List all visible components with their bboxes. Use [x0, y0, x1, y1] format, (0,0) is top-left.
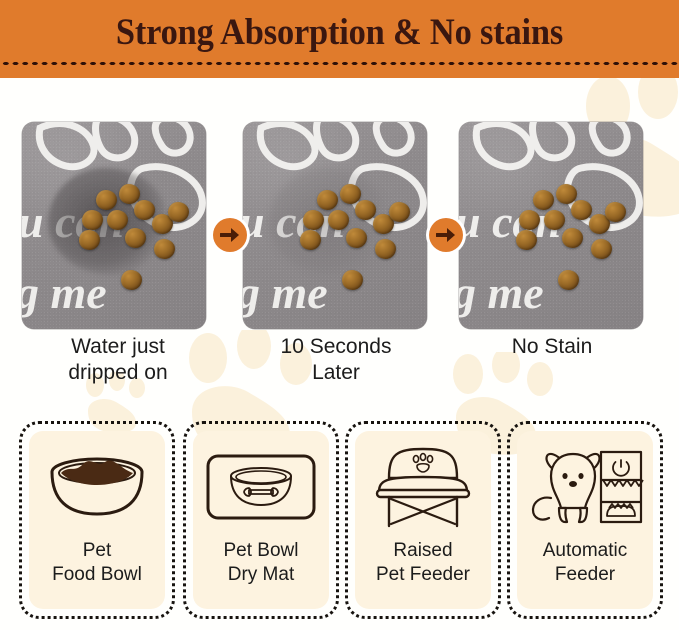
caption-line-1: No Stain [452, 334, 652, 360]
caption-line-2: Later [236, 360, 436, 386]
kibble-piece [516, 230, 537, 250]
svg-text:g me: g me [459, 267, 544, 318]
pet-bowl-dry-mat-icon [205, 437, 317, 537]
label-line-2: Pet Feeder [376, 563, 470, 587]
demo-tile-water-dripped: u can g me [22, 122, 206, 329]
use-case-card-pet-food-bowl: Pet Food Bowl [19, 421, 175, 619]
kibble-piece [328, 210, 349, 230]
header-banner: Strong Absorption & No stains [0, 0, 679, 78]
kibble-piece [125, 228, 146, 248]
svg-text:g me: g me [22, 267, 107, 318]
kibble-piece [96, 190, 117, 210]
automatic-feeder-icon [525, 437, 645, 537]
use-case-label: Automatic Feeder [543, 539, 627, 587]
kibble-piece [389, 202, 410, 222]
kibble-piece [558, 270, 579, 290]
kibble-piece [556, 184, 577, 204]
kibble-piece [317, 190, 338, 210]
arrow-right-icon [213, 218, 247, 252]
caption-line-2: dripped on [18, 360, 218, 386]
kibble-piece [571, 200, 592, 220]
kibble-piece [591, 239, 612, 259]
caption-line-1: 10 Seconds [236, 334, 436, 360]
dotted-divider [0, 61, 679, 66]
demo-caption-2: 10 Seconds Later [236, 334, 436, 386]
kibble-piece [562, 228, 583, 248]
use-case-label: Pet Bowl Dry Mat [224, 539, 299, 587]
kibble-piece [533, 190, 554, 210]
use-case-label: Pet Food Bowl [52, 539, 142, 587]
absorption-demo-row: u can g me [0, 122, 679, 330]
use-case-label: Raised Pet Feeder [376, 539, 470, 587]
label-line-1: Pet Bowl [224, 539, 299, 563]
label-line-2: Dry Mat [224, 563, 299, 587]
kibble-piece [544, 210, 565, 230]
use-case-card-pet-bowl-dry-mat: Pet Bowl Dry Mat [183, 421, 339, 619]
caption-line-1: Water just [18, 334, 218, 360]
kibble-piece [340, 184, 361, 204]
kibble-piece [346, 228, 367, 248]
kibble-piece [119, 184, 140, 204]
kibble-piece [134, 200, 155, 220]
use-case-row: Pet Food Bowl Pet Bowl [0, 421, 679, 621]
label-line-1: Automatic [543, 539, 627, 563]
infographic-page: Strong Absorption & No stains u can g me [0, 0, 679, 630]
kibble-piece [107, 210, 128, 230]
kibble-piece [605, 202, 626, 222]
kibble-piece [82, 210, 103, 230]
kibble-piece [121, 270, 142, 290]
demo-caption-3: No Stain [452, 334, 652, 360]
label-line-1: Pet [52, 539, 142, 563]
kibble-piece [300, 230, 321, 250]
use-case-card-raised-pet-feeder: Raised Pet Feeder [345, 421, 501, 619]
label-line-1: Raised [376, 539, 470, 563]
demo-caption-1: Water just dripped on [18, 334, 218, 386]
raised-pet-feeder-icon [367, 437, 479, 537]
kibble-piece [303, 210, 324, 230]
kibble-piece [519, 210, 540, 230]
kibble-piece [342, 270, 363, 290]
demo-tile-no-stain: u can g me [459, 122, 643, 329]
demo-tile-ten-seconds: u can g me [243, 122, 427, 329]
label-line-2: Food Bowl [52, 563, 142, 587]
label-line-2: Feeder [543, 563, 627, 587]
pet-food-bowl-icon [41, 437, 153, 537]
arrow-right-icon [429, 218, 463, 252]
demo-captions: Water just dripped on 10 Seconds Later N… [0, 334, 679, 404]
kibble-piece [355, 200, 376, 220]
use-case-card-automatic-feeder: Automatic Feeder [507, 421, 663, 619]
page-title: Strong Absorption & No stains [24, 11, 655, 54]
kibble-piece [154, 239, 175, 259]
kibble-piece [375, 239, 396, 259]
kibble-piece [79, 230, 100, 250]
svg-text:g me: g me [243, 267, 328, 318]
kibble-piece [168, 202, 189, 222]
